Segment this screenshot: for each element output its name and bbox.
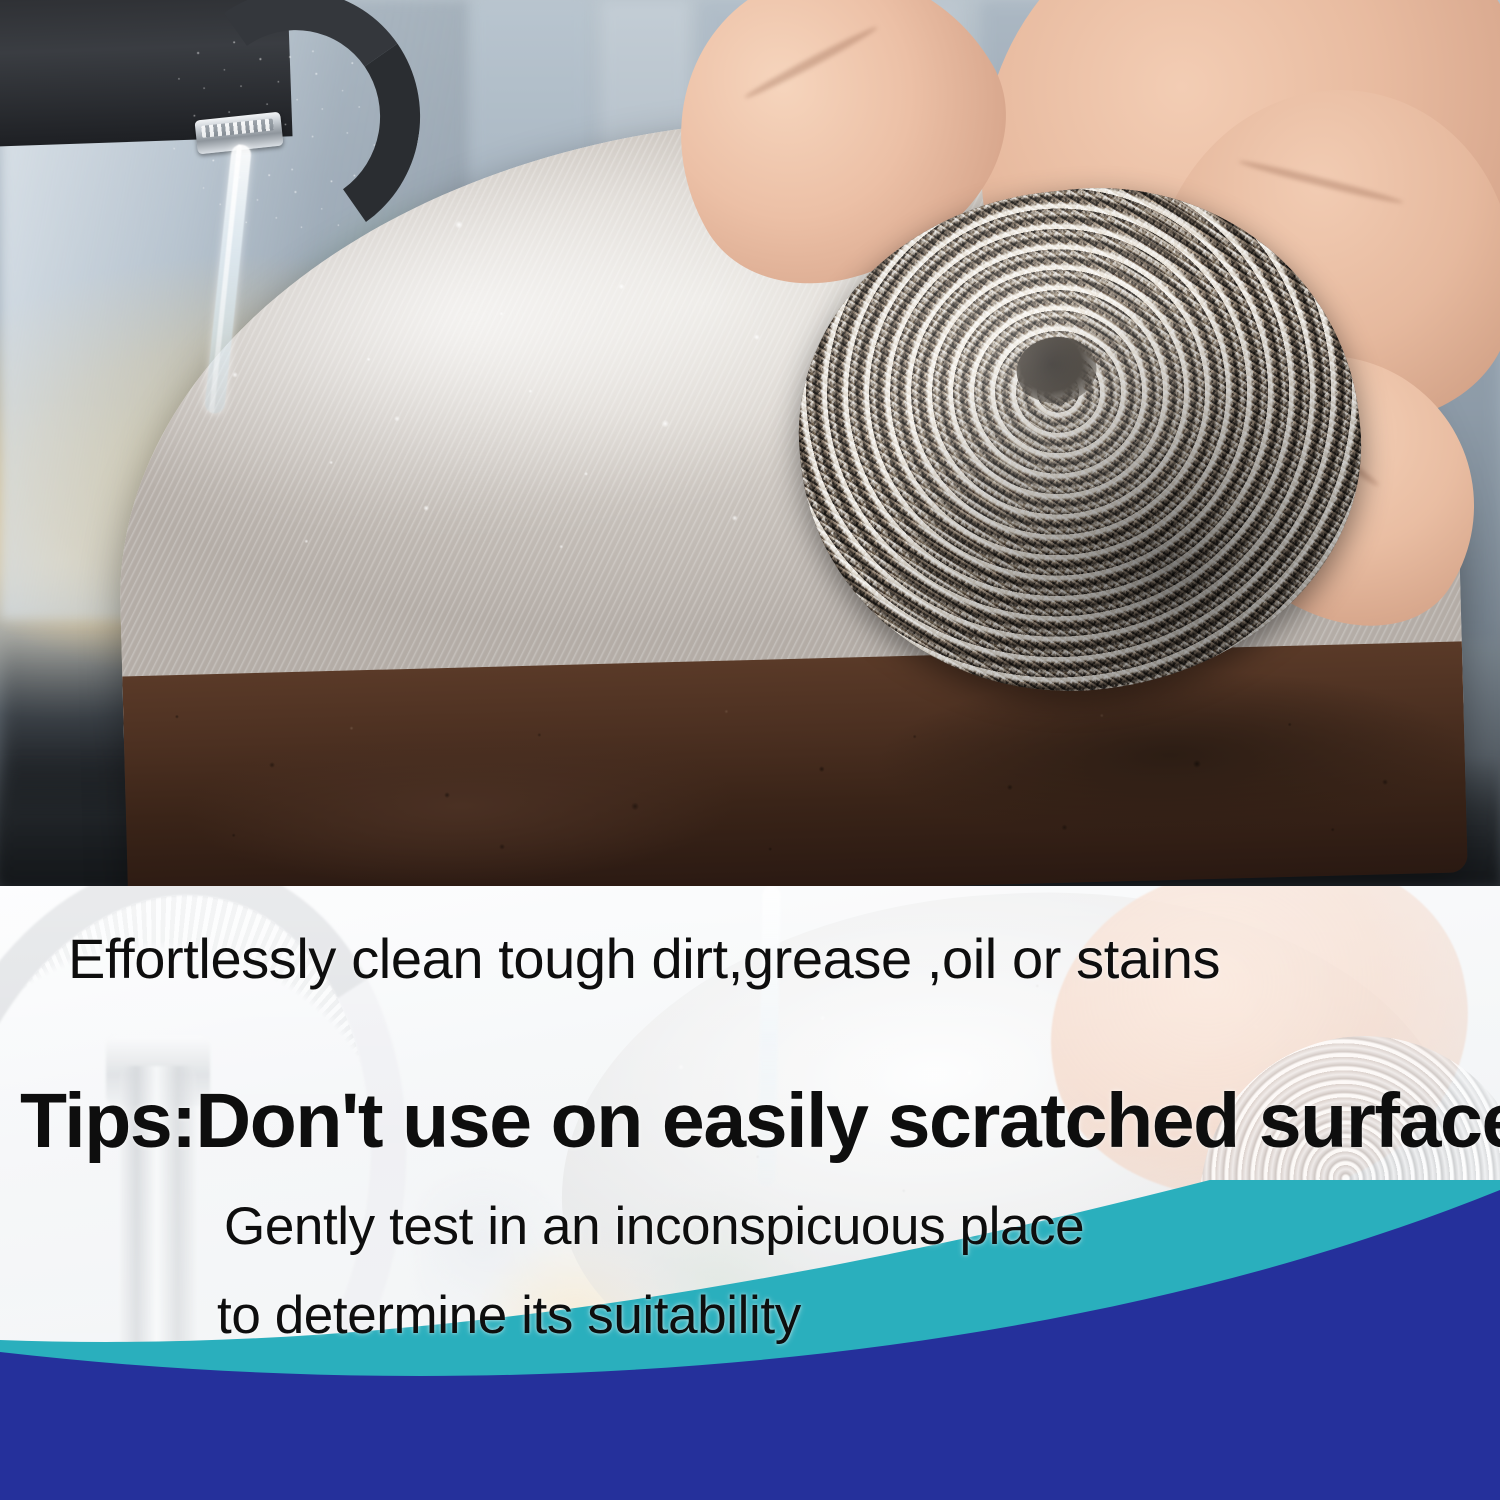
tips-line-two: to determine its suitability	[217, 1285, 801, 1346]
tips-line-one: Gently test in an inconspicuous place	[224, 1196, 1084, 1257]
scrubber-shading	[775, 162, 1384, 718]
hero-photo-panel	[0, 0, 1500, 886]
tips-heading: Tips:Don't use on easily scratched surfa…	[20, 1077, 1500, 1166]
tagline-text: Effortlessly clean tough dirt,grease ,oi…	[68, 926, 1220, 991]
steel-wire-scrubber-ball	[775, 162, 1384, 718]
product-infographic: Effortlessly clean tough dirt,grease ,oi…	[0, 0, 1500, 1500]
